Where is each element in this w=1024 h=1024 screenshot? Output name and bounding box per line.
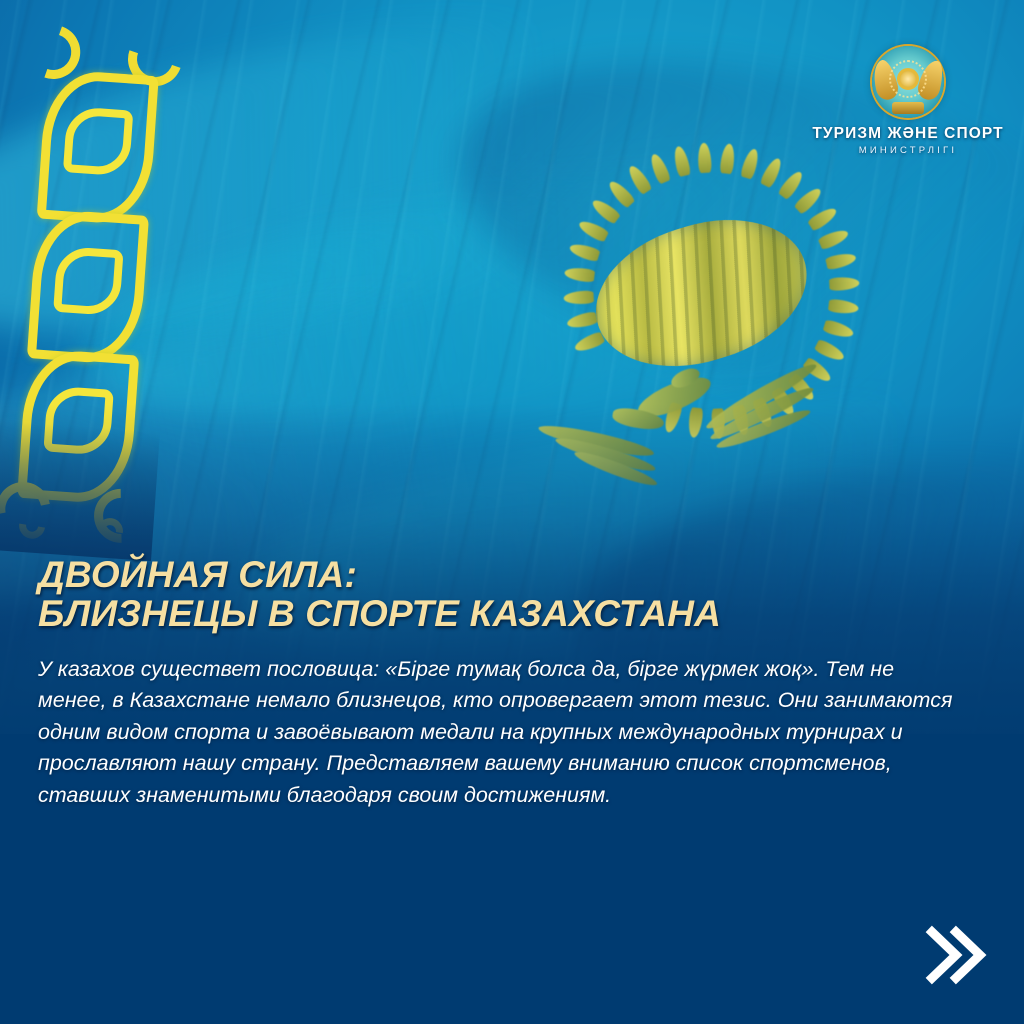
sun-ray: [828, 299, 859, 316]
sun-ray: [829, 276, 860, 291]
sun-ray: [566, 311, 598, 330]
sun-ray: [777, 169, 805, 201]
body-paragraph: У казахов существет пословица: «Бірге ту…: [38, 654, 953, 812]
headline-line-2: БЛИЗНЕЦЫ В СПОРТЕ КАЗАХСТАНА: [38, 595, 964, 634]
sun-ray: [573, 331, 606, 355]
sun-ray: [577, 218, 610, 243]
next-slide-button[interactable]: [918, 924, 990, 986]
headline-line-1: ДВОЙНАЯ СИЛА:: [38, 556, 964, 595]
ministry-name-line2: МИНИСТРЛІГІ: [810, 145, 1006, 156]
sun-ray: [759, 156, 784, 189]
kazakhstan-state-emblem-icon: [872, 46, 944, 118]
sun-ray: [568, 241, 600, 262]
sun-ray: [818, 227, 851, 251]
sun-ray: [589, 196, 621, 224]
content-block: ДВОЙНАЯ СИЛА: БЛИЗНЕЦЫ В СПОРТЕ КАЗАХСТА…: [38, 556, 964, 812]
sun-ray: [807, 205, 839, 232]
sun-ray: [825, 251, 857, 270]
ministry-name-line1: ТУРИЗМ ЖӘНЕ СПОРТ: [810, 125, 1006, 143]
sun-ray: [563, 290, 594, 305]
double-chevron-right-icon: [918, 924, 990, 986]
sun-ray: [822, 319, 854, 340]
sun-ray: [564, 266, 595, 283]
page-title: ДВОЙНАЯ СИЛА: БЛИЗНЕЦЫ В СПОРТЕ КАЗАХСТА…: [38, 556, 964, 634]
social-card: ТУРИЗМ ЖӘНЕ СПОРТ МИНИСТРЛІГІ ДВОЙНАЯ СИ…: [0, 0, 1024, 1024]
ministry-logo[interactable]: ТУРИЗМ ЖӘНЕ СПОРТ МИНИСТРЛІГІ: [810, 46, 1006, 156]
sun-ray: [793, 185, 824, 215]
